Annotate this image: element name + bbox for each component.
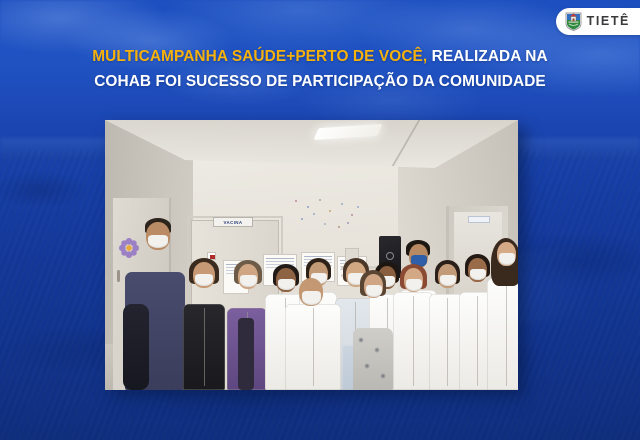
headline-block: MULTICAMPANHA SAÚDE+PERTO DE VOCÊ, REALI… [0, 44, 640, 94]
headline-line-1-tail: REALIZADA NA [427, 48, 547, 65]
person [485, 228, 518, 390]
person [351, 264, 395, 390]
person [123, 218, 187, 390]
headline-line-1: MULTICAMPANHA SAÚDE+PERTO DE VOCÊ, REALI… [34, 44, 606, 69]
poster-canvas: TIETÊ MULTICAMPANHA SAÚDE+PERTO DE VOCÊ,… [0, 0, 640, 440]
tiete-logo[interactable]: TIETÊ [556, 8, 640, 35]
person [179, 240, 229, 390]
headline-campaign-name: MULTICAMPANHA SAÚDE+PERTO DE VOCÊ, [92, 48, 427, 65]
group-photo[interactable]: VACINA [105, 120, 518, 390]
headline-line-2: COHAB FOI SUCESSO DE PARTICIPAÇÃO DA COM… [34, 69, 606, 94]
coat-of-arms-icon [565, 12, 582, 31]
logo-wordmark: TIETÊ [587, 15, 630, 28]
photo-scene: VACINA [105, 120, 518, 390]
person [283, 278, 343, 390]
people-group [105, 200, 518, 390]
